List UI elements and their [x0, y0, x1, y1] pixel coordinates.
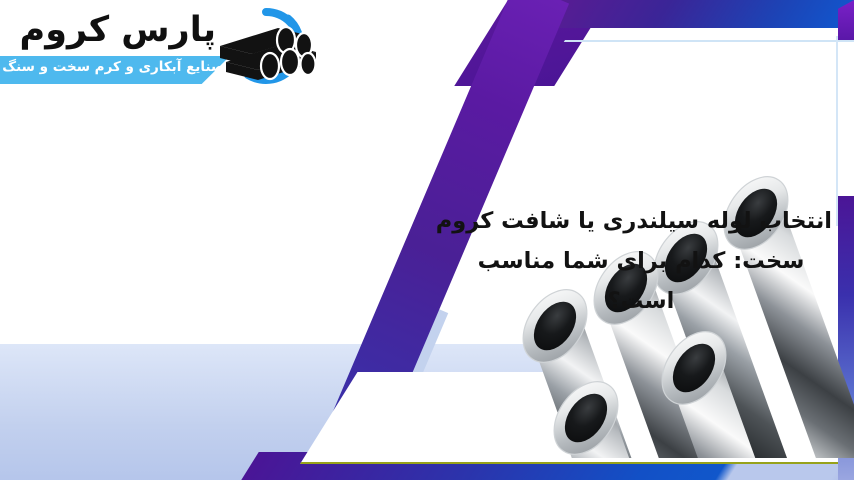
logo-wordmark: پارس کروم	[20, 10, 216, 50]
headline-line-2: سخت: کدام برای شما مناسب	[450, 241, 832, 281]
steel-pipes-bundle-icon	[204, 6, 326, 90]
headline-line-3: است؟	[450, 281, 832, 321]
banner-canvas: پارس کروم صنایع آبکاری و کرم سخت و سنگ م…	[0, 0, 854, 480]
logo-tagline: صنایع آبکاری و کرم سخت و سنگ محور	[14, 59, 224, 75]
brand-logo[interactable]: پارس کروم صنایع آبکاری و کرم سخت و سنگ م…	[8, 4, 328, 96]
headline-title: انتخاب لوله سیلندری یا شافت کروم سخت: کد…	[450, 201, 832, 321]
top-gradient-bar	[529, 0, 854, 28]
headline-line-1: انتخاب لوله سیلندری یا شافت کروم	[450, 201, 832, 241]
top-cyan-hairline	[564, 40, 854, 42]
